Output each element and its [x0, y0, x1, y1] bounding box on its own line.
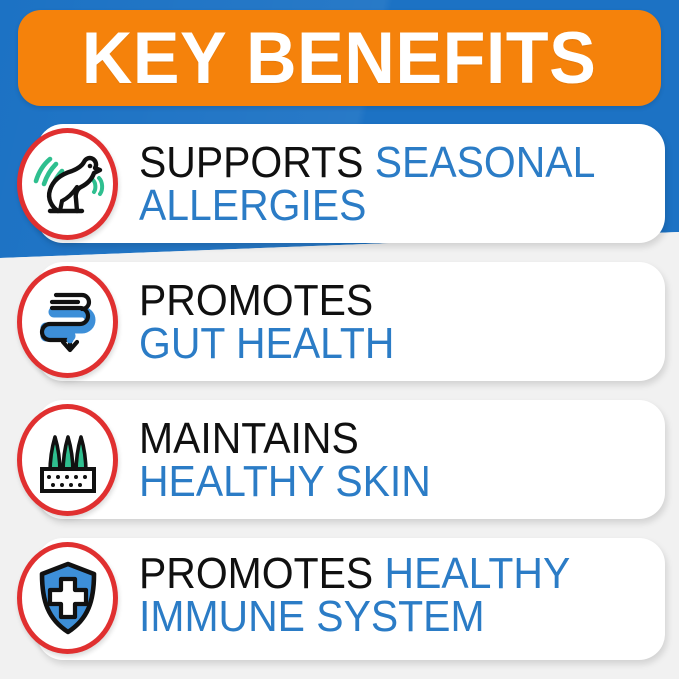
intestine-icon: [30, 284, 106, 360]
benefit-icon-badge-2: [17, 266, 118, 378]
benefit-3-line1-dark: MAINTAINS: [139, 417, 431, 460]
benefit-text-2: PROMOTES GUT HEALTH: [139, 279, 394, 365]
benefit-1-line2-blue: ALLERGIES: [139, 184, 595, 227]
benefit-2-line2-blue: GUT HEALTH: [139, 322, 394, 365]
skin-follicle-icon: [31, 425, 105, 495]
benefit-icon-badge-1: [17, 128, 118, 240]
benefit-1-line1-dark: SUPPORTS: [139, 138, 363, 187]
benefit-1-line1-blue: SEASONAL: [375, 138, 596, 187]
scratching-dog-icon: [30, 149, 106, 219]
benefit-4-line1-dark: PROMOTES: [139, 549, 373, 598]
key-benefits-banner: KEY BENEFITS: [18, 10, 661, 106]
benefit-4-line2-blue: IMMUNE SYSTEM: [139, 595, 570, 638]
benefit-icon-badge-4: [17, 542, 118, 654]
benefit-4-line1-blue: HEALTHY: [385, 549, 571, 598]
benefit-text-4: PROMOTES HEALTHY IMMUNE SYSTEM: [139, 552, 570, 638]
shield-cross-icon: [32, 559, 104, 637]
key-benefits-infographic: KEY BENEFITS: [0, 0, 679, 679]
benefit-2-line1-dark: PROMOTES: [139, 279, 394, 322]
page-title: KEY BENEFITS: [82, 22, 597, 95]
benefit-text-1: SUPPORTS SEASONAL ALLERGIES: [139, 141, 595, 227]
benefit-icon-badge-3: [17, 404, 118, 516]
benefit-text-3: MAINTAINS HEALTHY SKIN: [139, 417, 431, 503]
benefit-3-line2-blue: HEALTHY SKIN: [139, 460, 431, 503]
